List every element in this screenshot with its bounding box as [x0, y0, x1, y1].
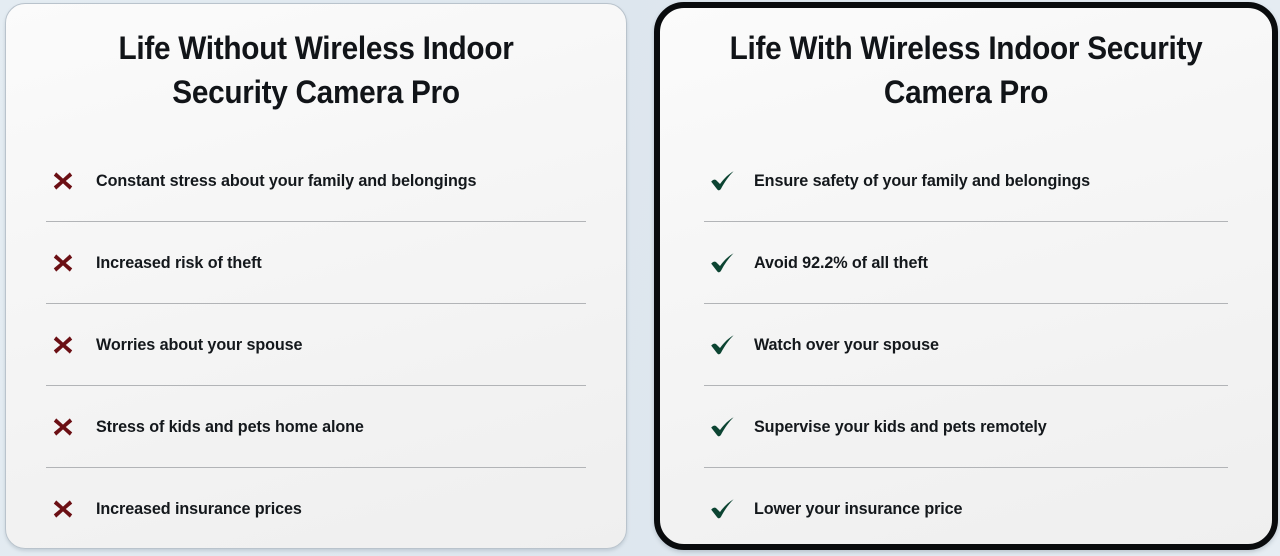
x-mark-icon — [52, 251, 82, 275]
list-item: Increased risk of theft — [46, 222, 586, 304]
list-item-label: Watch over your spouse — [754, 334, 939, 356]
x-mark-icon — [52, 169, 82, 193]
comparison-table: Life Without Wireless Indoor Security Ca… — [0, 0, 1280, 556]
check-mark-icon — [710, 415, 740, 439]
list-item-label: Avoid 92.2% of all theft — [754, 252, 928, 274]
list-item: Increased insurance prices — [46, 468, 586, 549]
list-item-label: Stress of kids and pets home alone — [96, 416, 364, 438]
list-item-label: Increased risk of theft — [96, 252, 262, 274]
list-item-label: Supervise your kids and pets remotely — [754, 416, 1047, 438]
x-mark-icon — [52, 497, 82, 521]
list-item-label: Worries about your spouse — [96, 334, 302, 356]
check-mark-icon — [710, 169, 740, 193]
x-mark-icon — [52, 333, 82, 357]
list-item: Worries about your spouse — [46, 304, 586, 386]
check-mark-icon — [710, 251, 740, 275]
panel-without-title: Life Without Wireless Indoor Security Ca… — [28, 4, 605, 114]
list-item-label: Increased insurance prices — [96, 498, 302, 520]
list-item: Lower your insurance price — [704, 468, 1228, 549]
list-item: Stress of kids and pets home alone — [46, 386, 586, 468]
list-item: Ensure safety of your family and belongi… — [704, 140, 1228, 222]
check-mark-icon — [710, 333, 740, 357]
list-item-label: Constant stress about your family and be… — [96, 170, 476, 192]
panel-with-title: Life With Wireless Indoor Security Camer… — [681, 8, 1250, 114]
list-item: Avoid 92.2% of all theft — [704, 222, 1228, 304]
list-item: Supervise your kids and pets remotely — [704, 386, 1228, 468]
without-benefit-list: Constant stress about your family and be… — [6, 140, 626, 549]
list-item-label: Ensure safety of your family and belongi… — [754, 170, 1090, 192]
check-mark-icon — [710, 497, 740, 521]
panel-life-with: Life With Wireless Indoor Security Camer… — [654, 2, 1278, 550]
with-benefit-list: Ensure safety of your family and belongi… — [660, 140, 1272, 549]
list-item-label: Lower your insurance price — [754, 498, 962, 520]
list-item: Constant stress about your family and be… — [46, 140, 586, 222]
list-item: Watch over your spouse — [704, 304, 1228, 386]
panel-life-without: Life Without Wireless Indoor Security Ca… — [5, 3, 627, 549]
x-mark-icon — [52, 415, 82, 439]
